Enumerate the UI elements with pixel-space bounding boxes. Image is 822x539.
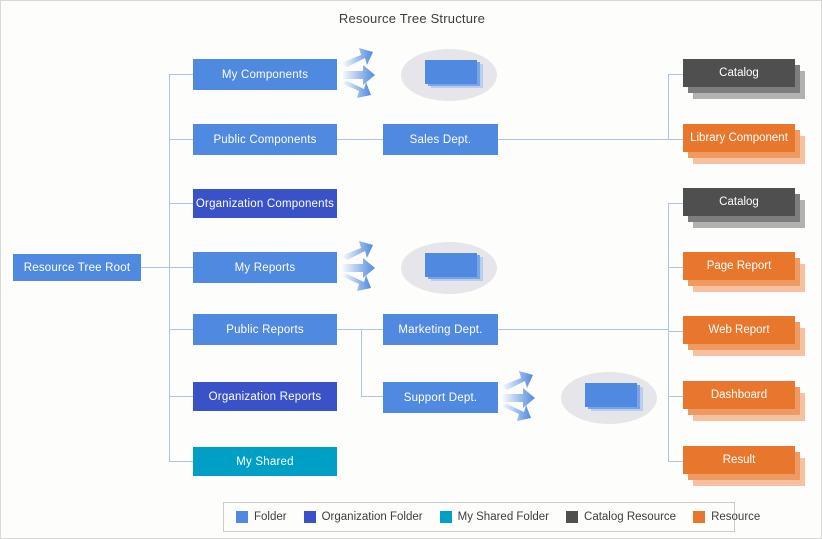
- legend-label: Resource: [711, 511, 760, 523]
- card-front: [683, 252, 795, 280]
- connector-right-dashboard: [668, 396, 683, 397]
- node-my-components[interactable]: My Components: [193, 59, 337, 90]
- node-my-shared[interactable]: My Shared: [193, 447, 337, 476]
- connector-sales-to-right-spine: [498, 139, 668, 140]
- legend-swatch-my-shared-folder: [440, 511, 452, 523]
- connector-right-catalog-mid: [668, 203, 683, 204]
- legend-swatch-folder: [236, 511, 248, 523]
- connector-right-web-report: [668, 331, 683, 332]
- node-catalog-mid[interactable]: Catalog: [683, 188, 801, 228]
- arrow-down-right: [341, 81, 371, 98]
- arrow-down-right: [341, 274, 371, 291]
- node-my-reports[interactable]: My Reports: [193, 252, 337, 283]
- connector-right-top-library: [668, 139, 683, 140]
- arrow-up-right: [341, 241, 373, 260]
- connector-public-reports-branch: [361, 329, 362, 396]
- connector-spine-my-reports: [169, 267, 193, 268]
- decoration-support-dept: [499, 364, 659, 432]
- connector-branch-marketing: [361, 329, 383, 330]
- node-marketing-dept[interactable]: Marketing Dept.: [383, 314, 498, 345]
- connector-spine-organization-reports: [169, 396, 193, 397]
- connector-root-to-spine: [141, 267, 169, 268]
- node-public-components[interactable]: Public Components: [193, 124, 337, 155]
- node-label: Support Dept.: [404, 392, 478, 404]
- card-front: [683, 381, 795, 409]
- node-public-reports[interactable]: Public Reports: [193, 314, 337, 345]
- node-sales-dept[interactable]: Sales Dept.: [383, 124, 498, 155]
- legend-item-organization-folder: Organization Folder: [304, 511, 423, 523]
- connector-right-page-report: [668, 267, 683, 268]
- legend-swatch-resource: [693, 511, 705, 523]
- node-label: Organization Reports: [209, 391, 322, 403]
- node-resource-tree-root[interactable]: Resource Tree Root: [13, 254, 141, 281]
- connector-right-spine-bottom: [668, 203, 669, 462]
- node-organization-components[interactable]: Organization Components: [193, 189, 337, 218]
- legend-item-catalog-resource: Catalog Resource: [566, 511, 676, 523]
- connector-spine-public-reports: [169, 329, 193, 330]
- connector-public-components-sales: [337, 139, 383, 140]
- connector-right-spine-top: [668, 74, 669, 140]
- node-label: Resource Tree Root: [24, 262, 131, 274]
- node-label: Public Reports: [226, 324, 304, 336]
- node-label: Organization Components: [196, 198, 334, 210]
- node-label: Sales Dept.: [410, 134, 472, 146]
- legend-item-folder: Folder: [236, 511, 287, 523]
- node-label: My Components: [222, 69, 308, 81]
- connector-spine-my-components: [169, 74, 193, 75]
- legend-swatch-catalog-resource: [566, 511, 578, 523]
- connector-right-top-catalog: [668, 74, 683, 75]
- page-title: Resource Tree Structure: [1, 11, 822, 26]
- legend-item-my-shared-folder: My Shared Folder: [440, 511, 549, 523]
- connector-main-spine: [169, 74, 170, 462]
- node-support-dept[interactable]: Support Dept.: [383, 382, 498, 413]
- node-library-component[interactable]: Library Component: [683, 124, 801, 164]
- decoration-my-components: [339, 41, 499, 109]
- decoration-my-reports: [339, 234, 499, 302]
- decoration-card-front: [425, 253, 477, 277]
- node-catalog-top[interactable]: Catalog: [683, 59, 801, 99]
- legend-label: My Shared Folder: [458, 511, 549, 523]
- card-front: [683, 446, 795, 474]
- node-label: My Shared: [236, 456, 293, 468]
- connector-spine-my-shared: [169, 461, 193, 462]
- legend-label: Folder: [254, 511, 287, 523]
- node-result[interactable]: Result: [683, 446, 801, 486]
- card-front: [683, 188, 795, 216]
- arrow-down-right: [501, 404, 531, 421]
- node-label: Public Components: [213, 134, 316, 146]
- legend-label: Organization Folder: [322, 511, 423, 523]
- node-label: My Reports: [235, 262, 296, 274]
- connector-marketing-to-right-spine: [498, 329, 668, 330]
- legend: Folder Organization Folder My Shared Fol…: [223, 502, 735, 532]
- node-organization-reports[interactable]: Organization Reports: [193, 382, 337, 411]
- connector-right-result: [668, 461, 683, 462]
- diagram-canvas: Resource Tree Structure Resource Tree Ro…: [0, 0, 822, 539]
- legend-item-resource: Resource: [693, 511, 760, 523]
- card-front: [683, 124, 795, 152]
- legend-label: Catalog Resource: [584, 511, 676, 523]
- arrow-up-right: [501, 371, 533, 390]
- connector-spine-public-components: [169, 139, 193, 140]
- card-front: [683, 59, 795, 87]
- decoration-card-front: [585, 383, 637, 407]
- node-dashboard[interactable]: Dashboard: [683, 381, 801, 421]
- node-page-report[interactable]: Page Report: [683, 252, 801, 292]
- arrow-up-right: [341, 48, 373, 67]
- connector-spine-organization-components: [169, 203, 193, 204]
- node-label: Marketing Dept.: [398, 324, 482, 336]
- decoration-card-front: [425, 60, 477, 84]
- card-front: [683, 316, 795, 344]
- node-web-report[interactable]: Web Report: [683, 316, 801, 356]
- connector-public-reports-out: [337, 329, 361, 330]
- connector-branch-support: [361, 396, 383, 397]
- legend-swatch-organization-folder: [304, 511, 316, 523]
